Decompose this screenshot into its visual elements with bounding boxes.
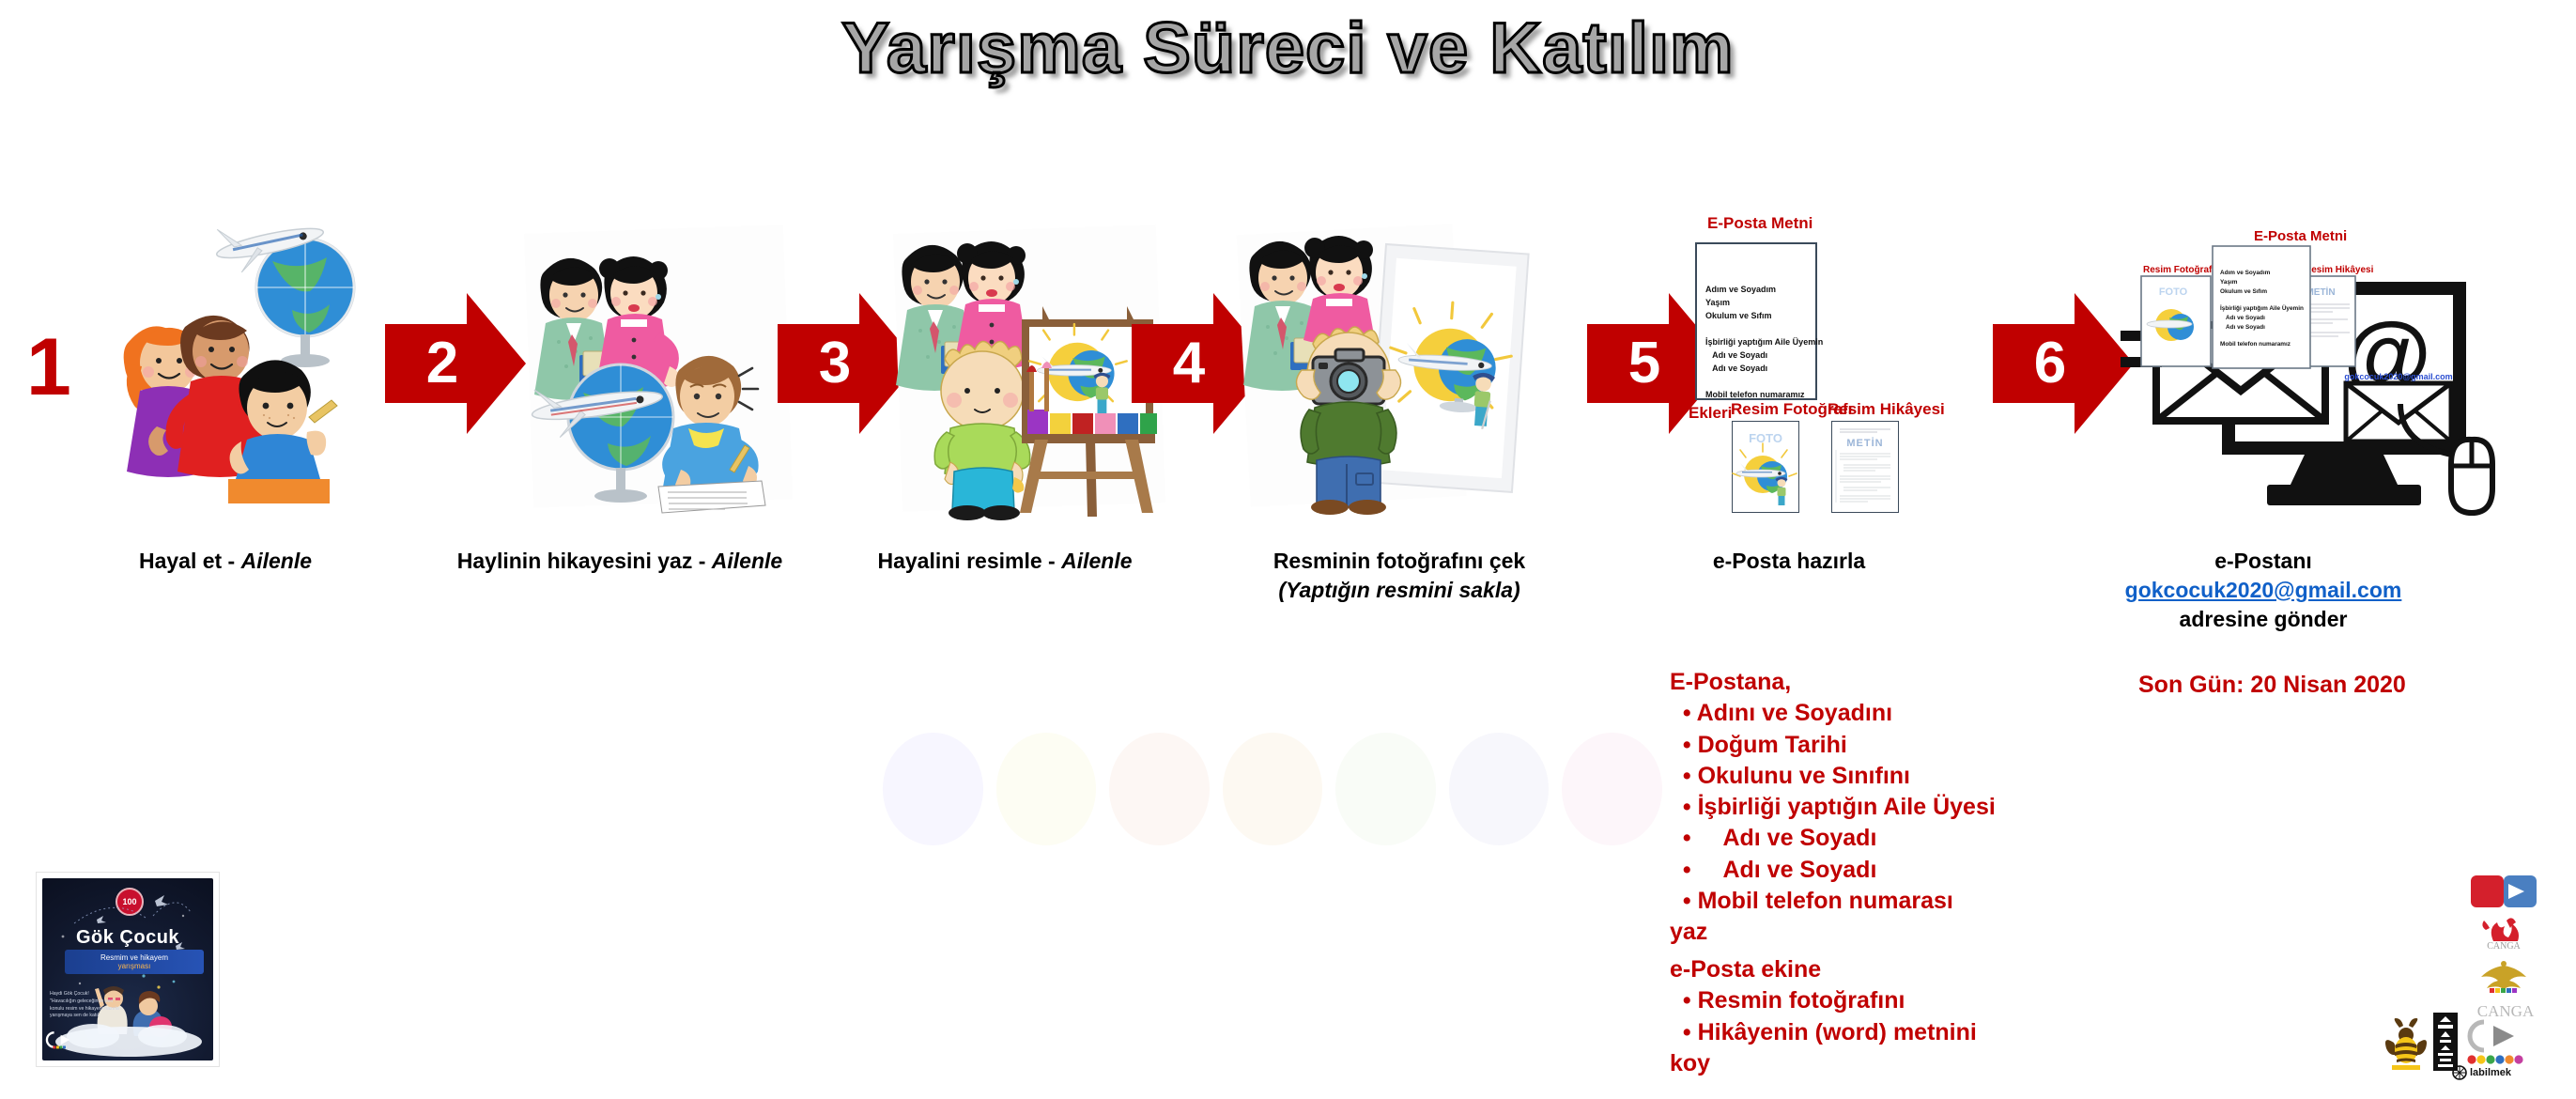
- step-2-number: 2: [426, 334, 458, 393]
- step-5-caption-main: e-Posta hazırla: [1713, 549, 1865, 573]
- mini-attachment-1-label: Resim Fotoğrafı: [2143, 265, 2214, 275]
- step-5-caption: e-Posta hazırla: [1634, 547, 1944, 576]
- svg-text:CANGA: CANGA: [2487, 941, 2521, 952]
- email-doc-body: Adım ve Soyadım Yaşım Okulum ve Sıfım İş…: [1705, 284, 1823, 401]
- step-4-caption-main: Resminin fotoğrafını çek: [1273, 549, 1525, 573]
- bg-ellipse: [883, 733, 983, 845]
- poster-ribbon-line2: yarışması: [100, 962, 168, 970]
- poster-artwork: 100: [42, 878, 213, 1060]
- svg-text:Adım ve Soyadım: Adım ve Soyadım: [2220, 270, 2271, 276]
- svg-text:Adı ve Soyadı: Adı ve Soyadı: [2226, 315, 2265, 321]
- step-6-number: 6: [2034, 334, 2066, 393]
- poster-ribbon-line1: Resmim ve hikayem: [100, 953, 168, 962]
- step-1-caption: Hayal et - Ailenle: [38, 547, 413, 576]
- step-4-caption-sub: (Yaptığın resmini sakla): [1202, 576, 1597, 605]
- step-3-caption-italic: Ailenle: [1061, 549, 1132, 573]
- contest-email-link[interactable]: gokcocuk2020@gmail.com: [2075, 576, 2451, 605]
- email-doc-page: Adım ve Soyadım Yaşım Okulum ve Sıfım İş…: [1695, 242, 1817, 400]
- step-1-caption-main: Hayal et: [139, 549, 222, 573]
- svg-text:Okulum ve Sıfım: Okulum ve Sıfım: [2220, 288, 2267, 295]
- step-3-caption: Hayalini resimle - Ailenle: [826, 547, 1183, 576]
- step-3-caption-main: Hayalini resimle: [877, 549, 1041, 573]
- svg-text:İşbirliği yaptığım Aile Üyemin: İşbirliği yaptığım Aile Üyemin: [2220, 303, 2304, 312]
- step-1-illustration: [108, 224, 380, 505]
- step-4-number: 4: [1173, 334, 1205, 393]
- poster-blurb: Haydi Gök Çocuk! "Havacılığın geleceğind…: [50, 991, 136, 1020]
- step-2-caption-italic: Ailenle: [712, 549, 782, 573]
- labilmek-mark-icon: [2452, 1065, 2467, 1080]
- labilmek-label: labilmek: [2470, 1067, 2511, 1078]
- bg-ellipse: [1223, 733, 1323, 845]
- attachment-2-label: Resim Hikâyesi: [1828, 400, 1945, 419]
- bg-ellipse: [1562, 733, 1662, 845]
- sponsor-logos: CANGA CANGA: [2356, 870, 2563, 1086]
- bg-ellipse: [1335, 733, 1436, 845]
- bg-ellipse: [1449, 733, 1550, 845]
- step-2-caption: Haylinin hikayesini yaz - Ailenle: [413, 547, 826, 576]
- contest-poster: 100: [36, 872, 220, 1067]
- eagle-logo: [2476, 958, 2531, 994]
- play-logo: [2467, 1020, 2525, 1052]
- totem-logo: [2433, 1013, 2458, 1071]
- step-2-caption-main: Haylinin hikayesini yaz: [457, 549, 693, 573]
- svg-text:FOTO: FOTO: [1749, 431, 1782, 445]
- step-4-illustration: [1240, 224, 1540, 515]
- email-doc-heading: E-Posta Metni: [1707, 214, 1812, 233]
- step-3-caption-sep: -: [1042, 549, 1061, 573]
- mini-attachment-2-label: Resim Hikâyesi: [2305, 265, 2374, 275]
- labilmek-logo: labilmek: [2452, 1065, 2511, 1080]
- attachments-label: Ekleri: [1689, 404, 1732, 423]
- step-4-caption: Resminin fotoğrafını çek (Yaptığın resmi…: [1202, 547, 1597, 605]
- canga-text-logo: CANGA: [2478, 999, 2533, 1022]
- svg-text:METİN: METİN: [1846, 437, 1883, 449]
- step-1-caption-italic: Ailenle: [241, 549, 312, 573]
- step-1-number: 1: [26, 327, 71, 408]
- attachment-story: METİN: [1831, 421, 1899, 513]
- attachment-photo: FOTO: [1732, 421, 1799, 513]
- poster-title: Gök Çocuk: [42, 927, 213, 949]
- svg-text:Yaşım: Yaşım: [2220, 279, 2238, 286]
- step-5-number: 5: [1628, 334, 1660, 393]
- step-1-caption-sep: -: [222, 549, 240, 573]
- background-ellipses: [883, 733, 1662, 845]
- bee-logo: [2383, 1018, 2429, 1071]
- svg-text:Mobil telefon numaramız: Mobil telefon numaramız: [2220, 341, 2291, 348]
- bg-ellipse: [1109, 733, 1210, 845]
- step-6-caption: e-Postanı gokcocuk2020@gmail.com adresin…: [2075, 547, 2451, 633]
- step-2-illustration: [521, 224, 803, 515]
- mini-email-heading: E-Posta Metni: [2254, 228, 2347, 244]
- svg-text:FOTO: FOTO: [2159, 286, 2188, 298]
- canga-logo: CANGA: [2475, 913, 2533, 952]
- page-title: Yarışma Süreci ve Katılım: [0, 8, 2576, 89]
- poster-ribbon: Resmim ve hikayem yarışması: [65, 950, 204, 974]
- step-6-caption-sub: adresine gönder: [2180, 607, 2348, 631]
- step-2-arrow: 2: [385, 293, 526, 434]
- poster-sponsor-logo: [52, 1030, 74, 1049]
- step-6-illustration: @ gokcocuk2020@gmail.com: [2121, 214, 2524, 524]
- slide-canvas: Yarışma Süreci ve Katılım 1: [0, 0, 2576, 1099]
- thy-logo: [2471, 875, 2537, 907]
- instructions-block-attachments: e-Posta ekine • Resmin fotoğrafını • Hik…: [1670, 954, 1977, 1079]
- step-6-caption-main: e-Postanı: [2214, 549, 2312, 573]
- step-3-number: 3: [819, 334, 851, 393]
- bg-ellipse: [996, 733, 1097, 845]
- svg-text:CANGA: CANGA: [2477, 1002, 2535, 1020]
- instructions-block-email-body: E-Postana, • Adını ve Soyadını • Doğum T…: [1670, 667, 1996, 948]
- svg-text:Adı ve Soyadı: Adı ve Soyadı: [2226, 324, 2265, 331]
- envelope-address: gokcocuk2020@gmail.com: [2344, 372, 2452, 381]
- deadline-text: Son Gün: 20 Nisan 2020: [2138, 672, 2406, 699]
- step-6-arrow: 6: [1993, 293, 2134, 434]
- color-dots-decoration: [2467, 1054, 2525, 1065]
- step-2-caption-sep: -: [692, 549, 711, 573]
